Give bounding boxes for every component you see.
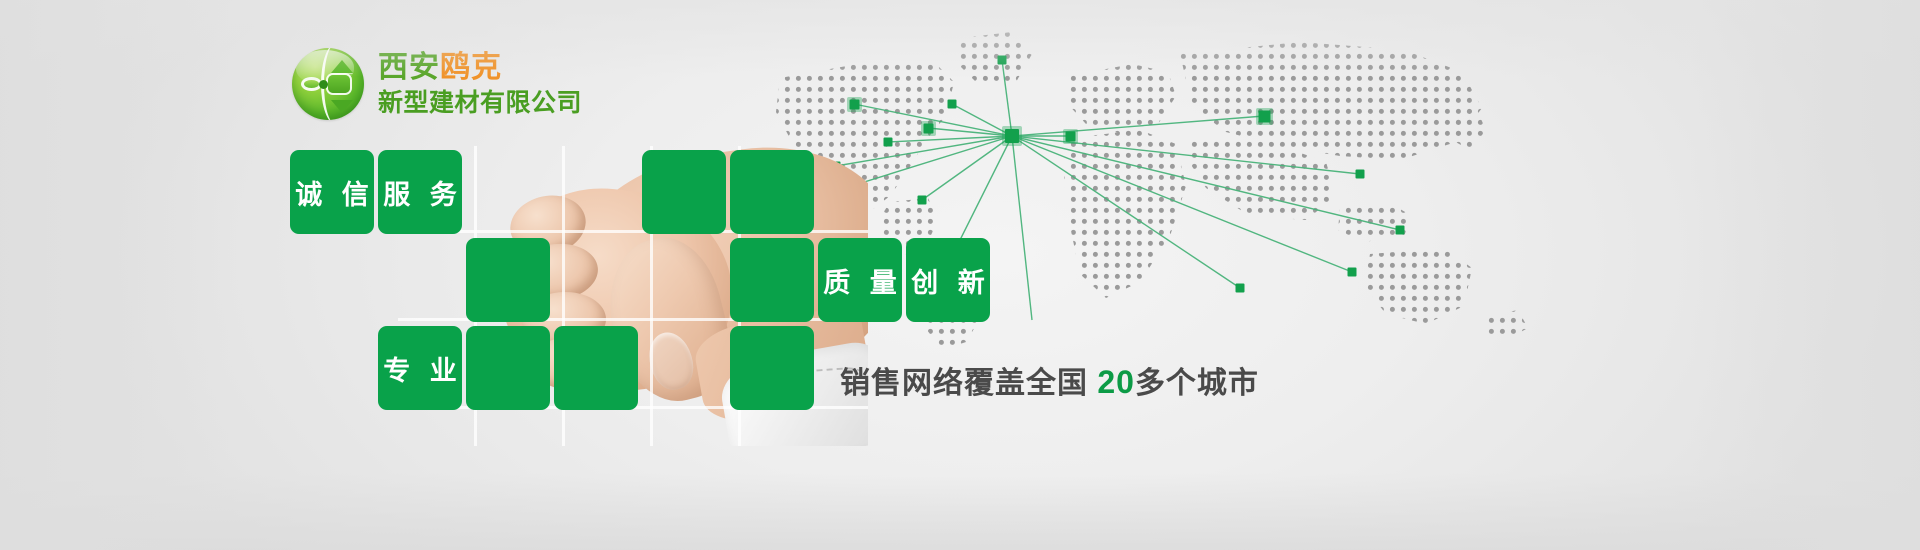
sales-network-tagline: 销售网络覆盖全国 20多个城市: [840, 358, 1259, 402]
tile-blank-mid-a: [466, 238, 550, 322]
company-name: 西安鸥克 新型建材有限公司: [378, 53, 582, 116]
tile-professional[interactable]: 专 业: [378, 326, 462, 410]
company-logo[interactable]: 西安鸥克 新型建材有限公司: [292, 48, 582, 120]
promo-banner: 西安鸥克 新型建材有限公司: [0, 0, 1920, 550]
tile-blank-top-right-b: [730, 150, 814, 234]
tile-blank-top-right-a: [642, 150, 726, 234]
tile-innovation[interactable]: 创 新: [906, 238, 990, 322]
tile-blank-bottom-a: [466, 326, 550, 410]
company-name-line2: 新型建材有限公司: [378, 91, 582, 116]
values-collage: 诚 信 服 务 质 量 创 新 专 业: [290, 150, 902, 422]
tile-blank-bottom-c: [730, 326, 814, 410]
company-globe-leaf-logo-icon: [292, 48, 364, 120]
tagline-suffix: 多个城市: [1135, 367, 1259, 400]
company-name-highlight: 鸥克: [440, 51, 502, 84]
company-name-prefix: 西安: [378, 51, 440, 84]
tile-blank-bottom-b: [554, 326, 638, 410]
tile-blank-mid-b: [730, 238, 814, 322]
tile-integrity[interactable]: 诚 信: [290, 150, 374, 234]
company-name-line1: 西安鸥克: [378, 53, 582, 83]
tagline-prefix: 销售网络覆盖全国: [840, 367, 1088, 400]
tile-quality[interactable]: 质 量: [818, 238, 902, 322]
tile-service[interactable]: 服 务: [378, 150, 462, 234]
tagline-city-count: 20: [1097, 364, 1135, 400]
